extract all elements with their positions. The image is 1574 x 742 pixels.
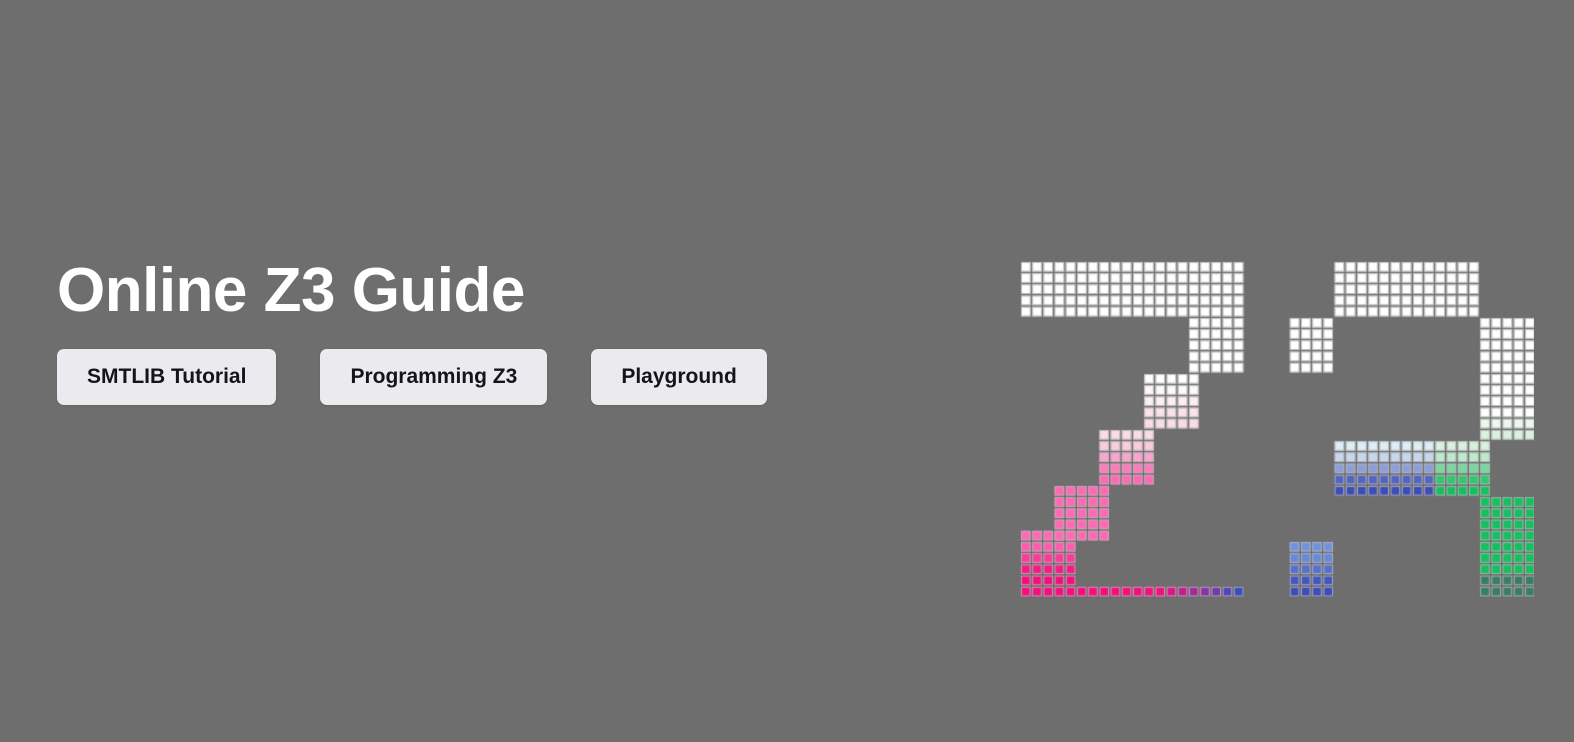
cta-button-row: SMTLIB Tutorial Programming Z3 Playgroun…: [57, 349, 977, 405]
playground-button[interactable]: Playground: [591, 349, 767, 405]
programming-z3-button[interactable]: Programming Z3: [320, 349, 547, 405]
smtlib-tutorial-button[interactable]: SMTLIB Tutorial: [57, 349, 276, 405]
hero-section: Online Z3 Guide SMTLIB Tutorial Programm…: [0, 0, 1574, 742]
hero-content: Online Z3 Guide SMTLIB Tutorial Programm…: [57, 258, 977, 405]
z3-logo: [1014, 252, 1534, 597]
page-title: Online Z3 Guide: [57, 258, 977, 323]
z3-logo-canvas: [1014, 252, 1534, 597]
